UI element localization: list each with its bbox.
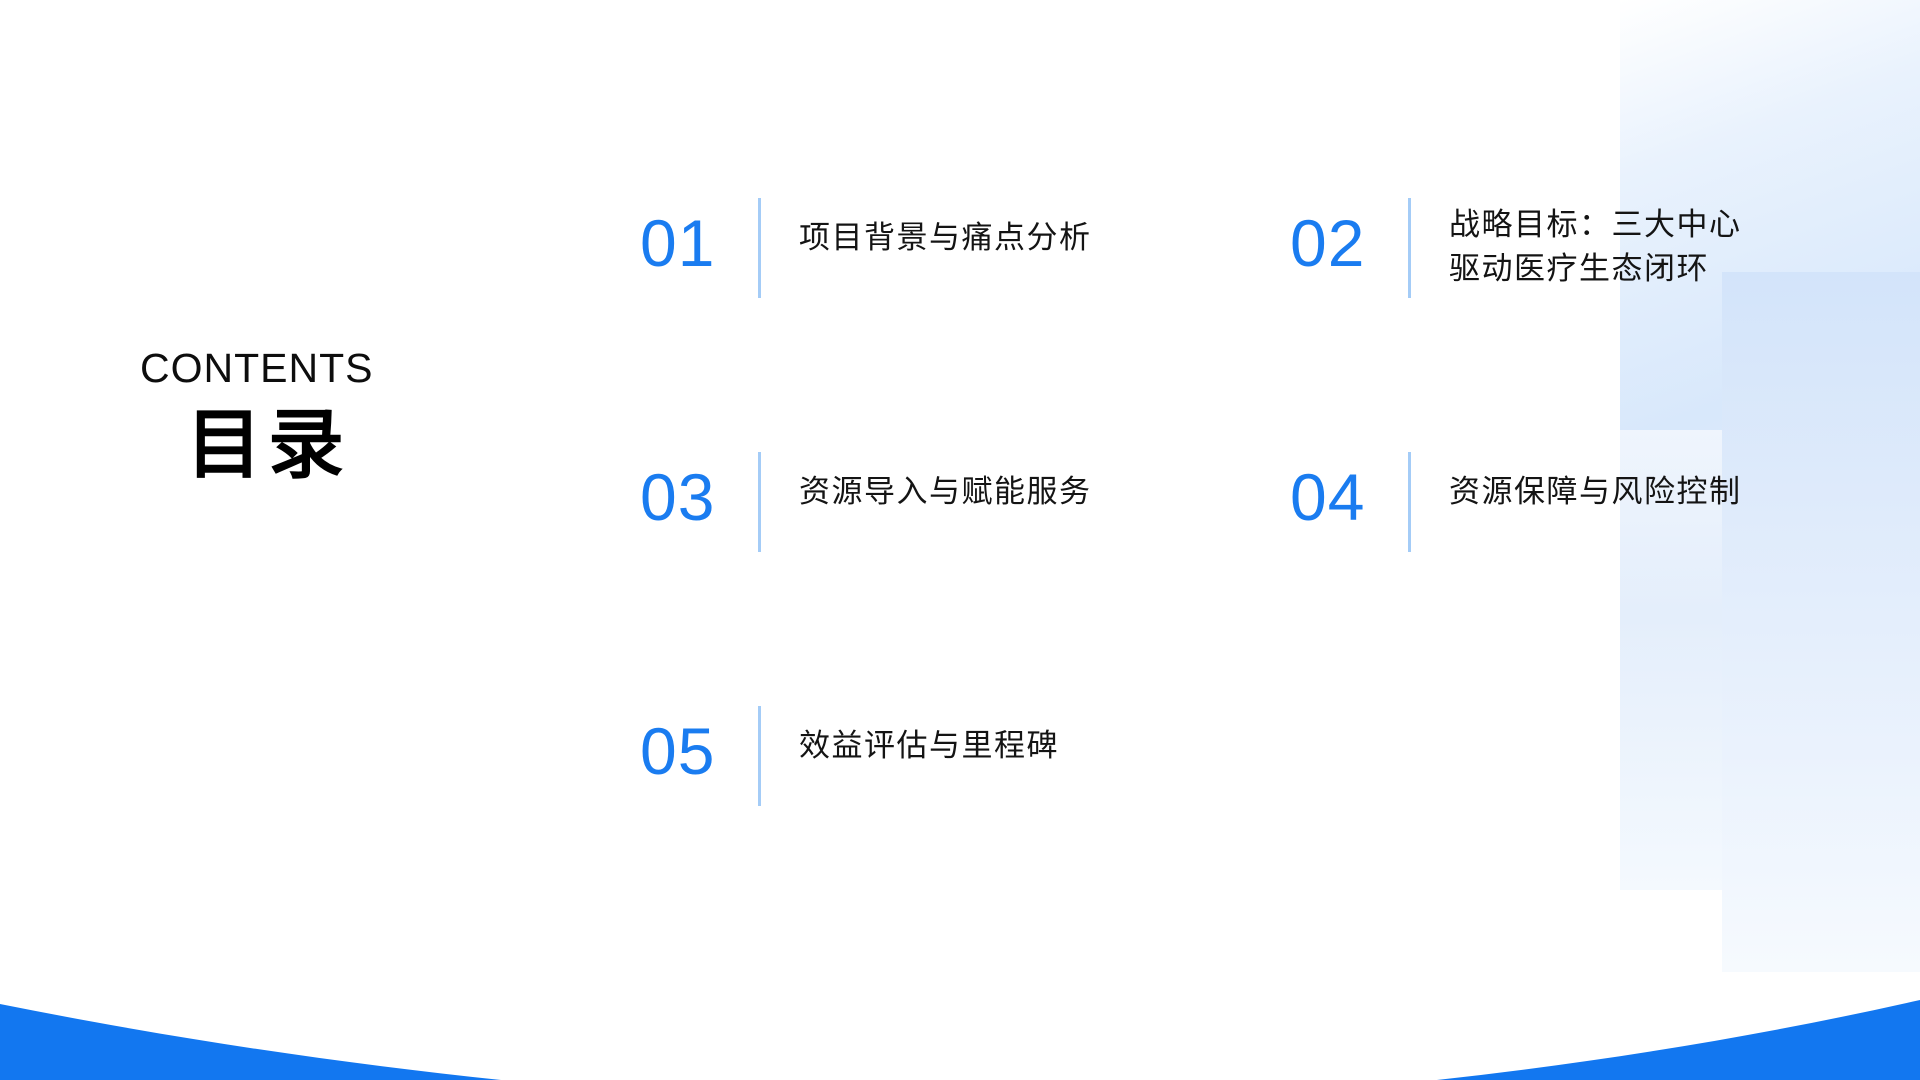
toc-label: 资源导入与赋能服务 xyxy=(799,452,1170,514)
bottom-wave-decoration xyxy=(0,960,1920,1080)
toc-number: 02 xyxy=(1290,198,1408,276)
toc-divider-line xyxy=(758,706,761,806)
toc-item-04[interactable]: 04 资源保障与风险控制 xyxy=(1290,452,1820,560)
heading-chinese: 目录 xyxy=(186,398,560,493)
toc-number: 03 xyxy=(640,452,758,530)
table-of-contents: 01 项目背景与痛点分析 02 战略目标：三大中心驱动医疗生态闭环 03 资源导… xyxy=(640,198,1820,814)
toc-divider-line xyxy=(1408,198,1411,298)
toc-item-05[interactable]: 05 效益评估与里程碑 xyxy=(640,706,1170,814)
toc-label: 资源保障与风险控制 xyxy=(1449,452,1820,514)
toc-divider-line xyxy=(758,198,761,298)
toc-label: 项目背景与痛点分析 xyxy=(799,198,1170,260)
toc-divider-line xyxy=(758,452,761,552)
toc-number: 05 xyxy=(640,706,758,784)
toc-label: 战略目标：三大中心驱动医疗生态闭环 xyxy=(1449,198,1820,291)
toc-item-03[interactable]: 03 资源导入与赋能服务 xyxy=(640,452,1170,560)
toc-item-01[interactable]: 01 项目背景与痛点分析 xyxy=(640,198,1170,306)
toc-item-02[interactable]: 02 战略目标：三大中心驱动医疗生态闭环 xyxy=(1290,198,1820,306)
toc-number: 01 xyxy=(640,198,758,276)
toc-divider-line xyxy=(1408,452,1411,552)
presentation-slide: CONTENTS 目录 01 项目背景与痛点分析 02 战略目标：三大中心驱动医… xyxy=(0,0,1920,1080)
page-title: CONTENTS 目录 xyxy=(140,345,560,493)
toc-number: 04 xyxy=(1290,452,1408,530)
heading-english: CONTENTS xyxy=(140,345,560,392)
toc-label: 效益评估与里程碑 xyxy=(799,706,1170,768)
